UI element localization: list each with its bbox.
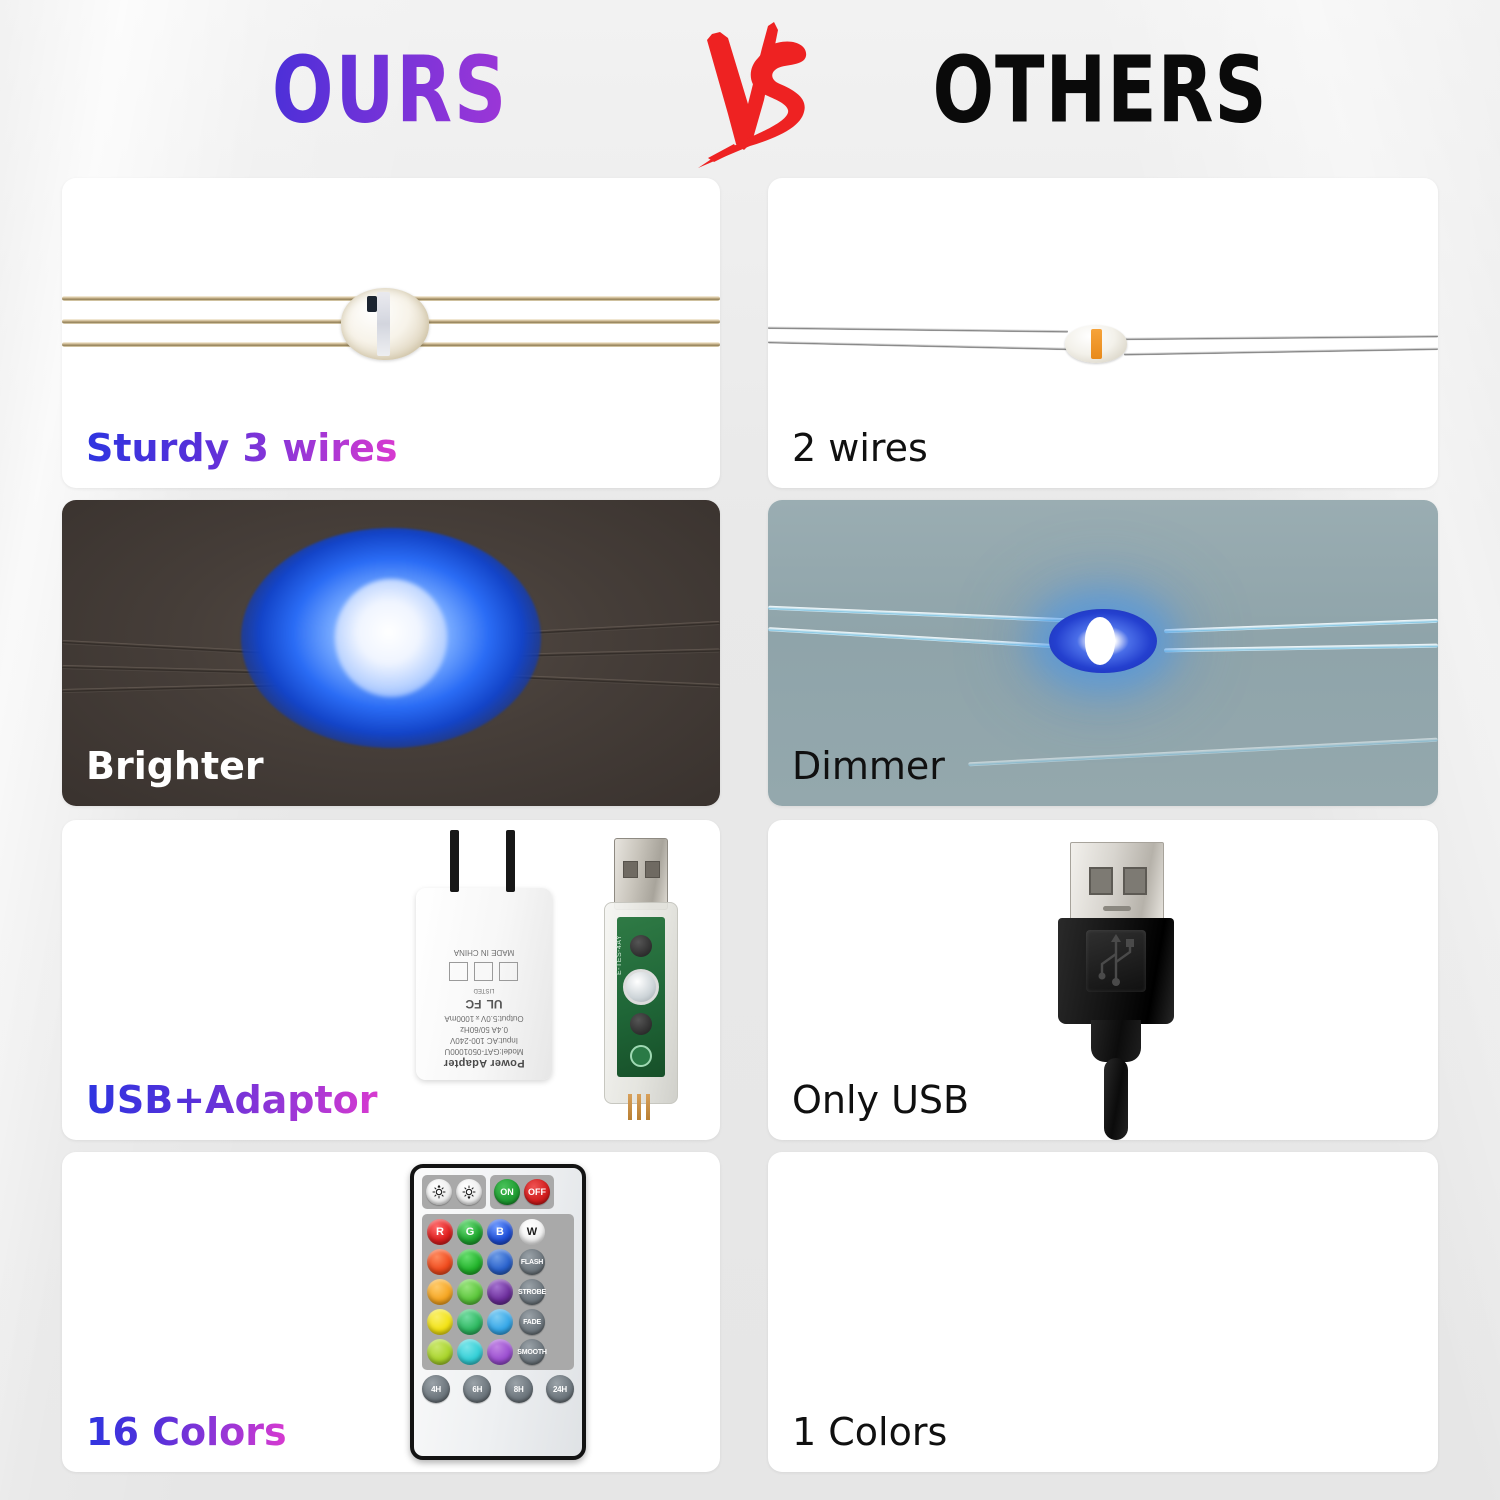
adapter-model: Model:GAT-0501000U — [426, 1046, 542, 1057]
usb-trident-icon — [1086, 930, 1146, 992]
color-key-b[interactable]: B — [487, 1219, 513, 1245]
color-key-7[interactable] — [427, 1309, 453, 1335]
adapter-input: Input:AC 100-240V — [426, 1035, 542, 1046]
led-bead — [1065, 325, 1127, 363]
caption-others-colors: 1 Colors — [792, 1410, 947, 1454]
ir-sensor — [630, 1045, 652, 1067]
comparison-header: OURS OTHERS — [0, 0, 1500, 172]
color-key-1[interactable] — [427, 1249, 453, 1275]
ours-title: OURS — [83, 38, 697, 144]
usb-cable — [1104, 1058, 1128, 1140]
usb-controller: E-TES-4AY — [600, 838, 680, 1120]
card-ours-wires: Sturdy 3 wires — [62, 178, 720, 488]
timer-24h-button[interactable]: 24H — [546, 1375, 574, 1403]
power-adapter: Power Adapter Model:GAT-0501000U Input:A… — [416, 888, 552, 1080]
usb-controller-shell: E-TES-4AY — [604, 902, 678, 1104]
plug-prong-left — [450, 830, 459, 892]
adapter-label: Power Adapter Model:GAT-0501000U Input:A… — [416, 888, 552, 1080]
class2-icon — [450, 962, 469, 981]
led-bead — [341, 288, 429, 360]
mode-button[interactable] — [630, 935, 652, 957]
adapter-title: Power Adapter — [426, 1057, 542, 1068]
color-key-11[interactable] — [457, 1339, 483, 1365]
pcb-silkscreen: E-TES-4AY — [616, 935, 623, 975]
caption-ours-brightness: Brighter — [86, 744, 264, 788]
card-others-colors: ON TIMER OFF 1 MODE 2 3 4 5 6 7 8 — [768, 1152, 1438, 1472]
others-title: OTHERS — [793, 38, 1407, 144]
color-key-5[interactable] — [457, 1279, 483, 1305]
adapter-origin: MADE IN CHINA — [426, 947, 542, 958]
usb-a-connector — [614, 838, 668, 910]
caption-others-wires: 2 wires — [792, 426, 928, 470]
card-others-power: Only USB — [768, 820, 1438, 1140]
power-off-button[interactable]: OFF — [524, 1179, 550, 1205]
brightness-up-button[interactable] — [426, 1179, 452, 1205]
usb-strain-relief — [1091, 1020, 1141, 1062]
wee-bin-icon — [500, 962, 519, 981]
color-key-g[interactable]: G — [457, 1219, 483, 1245]
color-key-2[interactable] — [457, 1249, 483, 1275]
remote-24-key[interactable]: ON OFF R G B — [410, 1164, 586, 1460]
color-key-4[interactable] — [427, 1279, 453, 1305]
card-others-wires: 2 wires — [768, 178, 1438, 488]
usb-plug-shell — [1070, 842, 1164, 926]
timer-4h-button[interactable]: 4H — [422, 1375, 450, 1403]
color-key-10[interactable] — [427, 1339, 453, 1365]
strobe-button[interactable]: STROBE — [519, 1279, 545, 1305]
led-bead-lit — [1049, 609, 1157, 673]
card-ours-power: Power Adapter Model:GAT-0501000U Input:A… — [62, 820, 720, 1140]
usb-pcb: E-TES-4AY — [617, 917, 665, 1077]
timer-key-row: 4H 6H 8H 24H — [422, 1375, 574, 1403]
timer-8h-button[interactable]: 8H — [505, 1375, 533, 1403]
power-button[interactable] — [623, 969, 659, 1005]
effect-key-column: W FLASH STROBE FADE SMOOTH — [519, 1219, 545, 1365]
color-key-6[interactable] — [487, 1279, 513, 1305]
smooth-button[interactable]: SMOOTH — [519, 1339, 545, 1365]
adapter-current: 0.4A 50/60Hz — [426, 1024, 542, 1035]
color-key-r[interactable]: R — [427, 1219, 453, 1245]
remote-top-row: ON OFF — [422, 1175, 574, 1209]
caption-others-brightness: Dimmer — [792, 744, 945, 788]
wire-leads — [628, 1094, 652, 1120]
fade-button[interactable]: FADE — [519, 1309, 545, 1335]
color-key-9[interactable] — [487, 1309, 513, 1335]
caption-ours-colors: 16 Colors — [86, 1410, 287, 1454]
color-key-w[interactable]: W — [519, 1219, 545, 1245]
remote-color-panel: R G B W FLASH STROBE FADE — [422, 1214, 574, 1370]
adapter-output: Output:5.0V⌅1000mA — [426, 1013, 542, 1024]
polarity-icon — [475, 962, 494, 981]
color-key-12[interactable] — [487, 1339, 513, 1365]
flash-button[interactable]: FLASH — [519, 1249, 545, 1275]
plug-prong-right — [506, 830, 515, 892]
caption-ours-power: USB+Adaptor — [86, 1078, 378, 1122]
caption-others-power: Only USB — [792, 1078, 969, 1122]
timer-button[interactable] — [630, 1013, 652, 1035]
color-key-3[interactable] — [487, 1249, 513, 1275]
color-grid: R G B — [427, 1219, 513, 1365]
card-ours-colors: ON OFF R G B — [62, 1152, 720, 1472]
card-others-brightness: Dimmer — [768, 500, 1438, 806]
caption-ours-wires: Sturdy 3 wires — [86, 426, 397, 470]
power-on-button[interactable]: ON — [494, 1179, 520, 1205]
color-key-8[interactable] — [457, 1309, 483, 1335]
ul-mark: UL — [487, 998, 503, 1009]
timer-6h-button[interactable]: 6H — [463, 1375, 491, 1403]
usb-plug-body — [1058, 918, 1174, 1024]
usb-a-plug — [1036, 842, 1196, 1132]
card-ours-brightness: Brighter — [62, 500, 720, 806]
adapter-icons — [426, 962, 542, 981]
ul-listed-text: LISTED — [426, 984, 542, 995]
brightness-down-button[interactable] — [456, 1179, 482, 1205]
fcc-mark: FC — [466, 998, 482, 1009]
led-chip — [367, 296, 377, 312]
led-core — [335, 579, 447, 697]
